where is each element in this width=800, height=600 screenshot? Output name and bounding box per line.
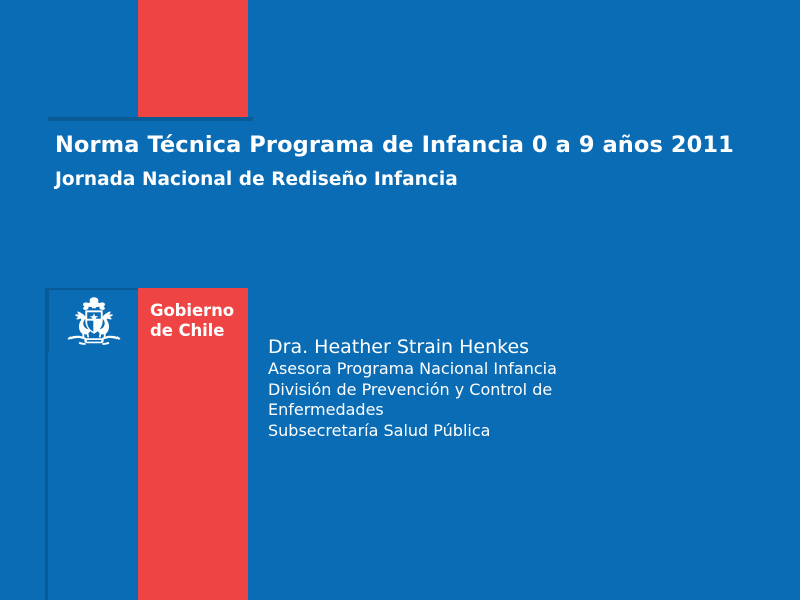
logo-word-line-1: Gobierno (150, 301, 248, 320)
title-block: Norma Técnica Programa de Infancia 0 a 9… (55, 131, 755, 192)
author-affiliation-line: Subsecretaría Salud Pública (268, 421, 748, 441)
author-affiliation-line: Asesora Programa Nacional Infancia (268, 359, 748, 379)
author-block: Dra. Heather Strain Henkes Asesora Progr… (268, 336, 748, 441)
author-affiliation-line: División de Prevención y Control de (268, 380, 748, 400)
horizontal-rule-cap (248, 117, 253, 121)
author-affiliation-line: Enfermedades (268, 400, 748, 420)
author-name: Dra. Heather Strain Henkes (268, 336, 748, 359)
horizontal-rule (48, 117, 253, 121)
presentation-slide: Norma Técnica Programa de Infancia 0 a 9… (0, 0, 800, 600)
logo-wordmark: Gobierno de Chile (138, 288, 248, 353)
gobierno-de-chile-logo: Gobierno de Chile (47, 288, 248, 353)
slide-subtitle: Jornada Nacional de Rediseño Infancia (55, 168, 755, 192)
slide-title: Norma Técnica Programa de Infancia 0 a 9… (55, 131, 755, 161)
red-stripe-top (138, 0, 248, 120)
crest-box (47, 288, 138, 353)
chile-coat-of-arms-icon (57, 296, 131, 348)
logo-word-line-2: de Chile (150, 321, 248, 340)
